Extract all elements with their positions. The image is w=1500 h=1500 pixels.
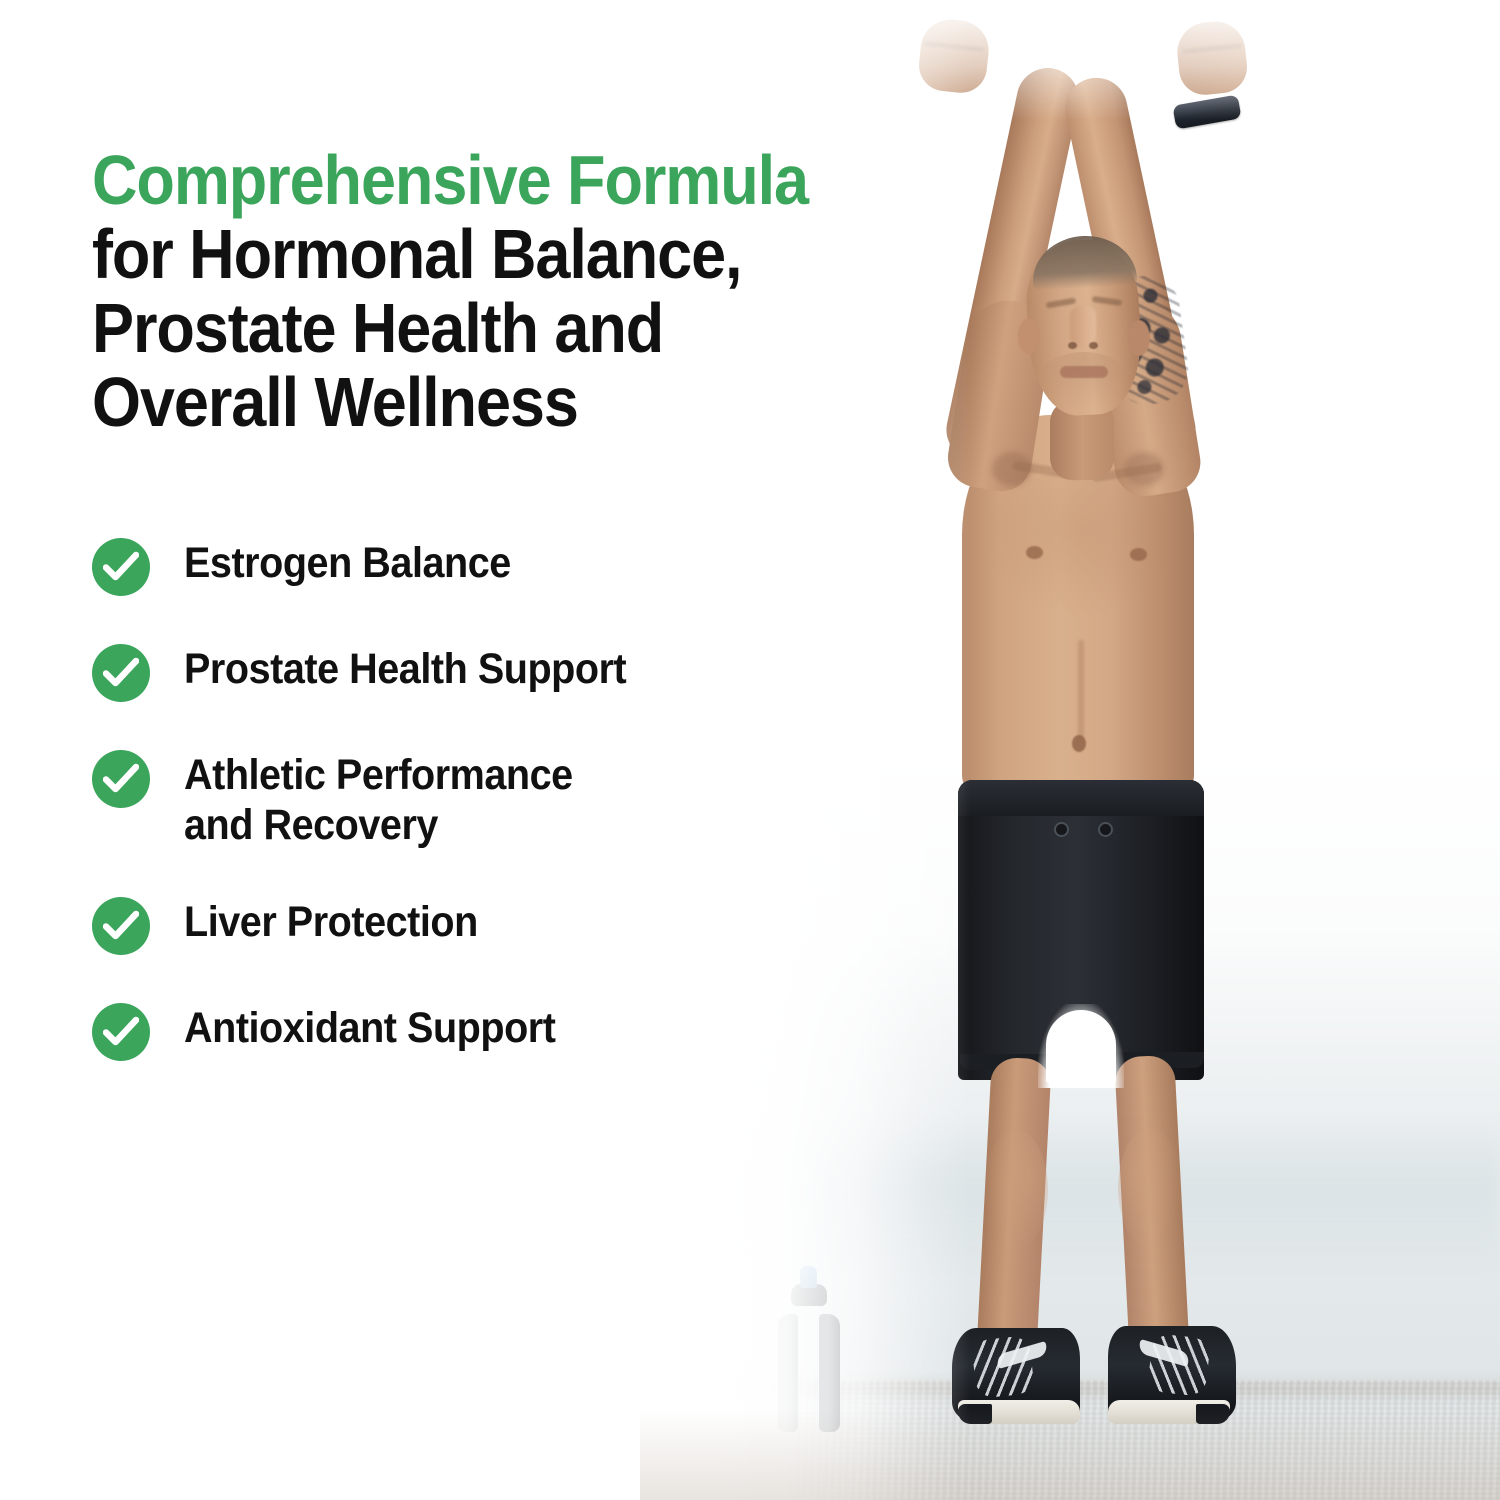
check-icon [92, 644, 150, 702]
benefit-label: Prostate Health Support [184, 642, 626, 695]
shorts-gap [1046, 1010, 1116, 1082]
headline-body-lines: for Hormonal Balance, Prostate Health an… [92, 217, 866, 440]
list-item: Antioxidant Support [92, 1001, 992, 1063]
shorts-waistband [958, 780, 1204, 816]
promo-canvas: Comprehensive Formula for Hormonal Balan… [0, 0, 1500, 1500]
left-ear [1018, 318, 1040, 354]
left-nipple [1026, 546, 1043, 559]
headline-accent-line: Comprehensive Formula [92, 143, 866, 217]
benefit-label: Estrogen Balance [184, 536, 511, 589]
right-calf-highlight [1118, 1128, 1182, 1248]
check-icon [92, 1003, 150, 1061]
jaw-shading [1038, 352, 1130, 410]
left-calf-highlight [984, 1130, 1048, 1250]
list-item: Athletic Performance and Recovery [92, 748, 992, 851]
benefit-label: Athletic Performance and Recovery [184, 748, 573, 851]
check-icon [92, 538, 150, 596]
benefit-label: Antioxidant Support [184, 1001, 555, 1054]
left-nostril [1068, 342, 1077, 349]
right-nostril [1089, 342, 1098, 349]
list-item: Prostate Health Support [92, 642, 992, 704]
benefit-label: Liver Protection [184, 895, 478, 948]
right-ear [1128, 320, 1150, 356]
chest-shading [980, 470, 1176, 620]
content-panel: Comprehensive Formula for Hormonal Balan… [0, 0, 700, 1500]
drawstring-eyelet-left [1054, 822, 1069, 837]
check-icon [92, 750, 150, 808]
photo-top-fade [640, 0, 1500, 120]
check-icon [92, 897, 150, 955]
abdominal-line [1078, 640, 1084, 740]
navel [1072, 735, 1086, 752]
page-title: Comprehensive Formula for Hormonal Balan… [92, 143, 866, 440]
list-item: Estrogen Balance [92, 536, 992, 598]
drawstring-eyelet-right [1098, 822, 1113, 837]
list-item: Liver Protection [92, 895, 992, 957]
benefits-list: Estrogen Balance Prostate Health Support… [92, 536, 992, 1063]
right-nipple [1130, 548, 1147, 561]
right-shoe-toe [1196, 1404, 1230, 1424]
